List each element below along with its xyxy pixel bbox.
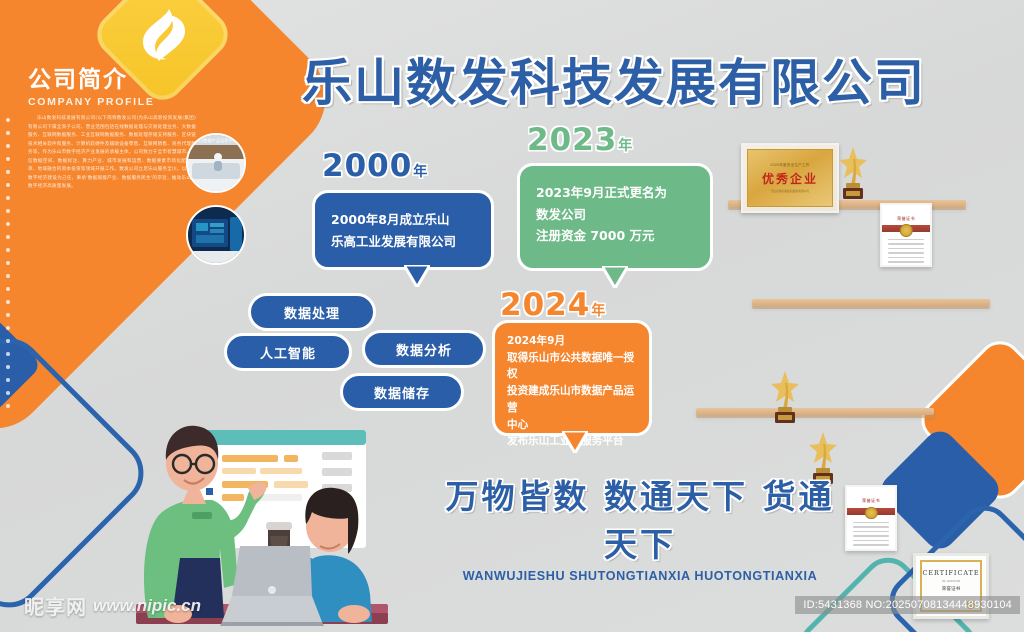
bubble-tail-2000 <box>404 265 430 287</box>
cert-v-title-1: 荣誉证书 <box>882 216 930 222</box>
year-label-2024: 2024年 <box>500 287 605 323</box>
watermark-url: www.nipic.cn <box>93 596 201 616</box>
profile-photo-data-screen <box>186 205 246 265</box>
cert-gold-small-title: 2020年度安全生产工作 <box>770 163 809 168</box>
cert-gold-big-title: 优秀企业 <box>762 170 818 187</box>
cert-seal-icon <box>900 224 913 237</box>
year-label-2000: 2000年 <box>322 148 427 184</box>
capability-pill-data-analysis[interactable]: 数据分析 <box>362 330 486 368</box>
profile-heading-en: COMPANY PROFILE <box>28 96 203 108</box>
award-trophy <box>838 145 1024 206</box>
profile-photo-operations-center: 乐山数据产品运营中心 <box>186 133 246 193</box>
timeline-bubble-2000: 2000年8月成立乐山 乐高工业发展有限公司 <box>312 190 494 270</box>
bubble-tail-2023 <box>602 266 628 288</box>
award-certificate-excellent-enterprise: 2020年度安全生产工作 优秀企业 乐山高新投资发展(集团)有限公司 <box>741 143 839 213</box>
award-trophy <box>770 369 1024 430</box>
cert-land-subtitle: OF HONOUR <box>916 579 986 583</box>
capability-pill-artificial-intelligence[interactable]: 人工智能 <box>224 333 352 371</box>
bubble-tail-2024 <box>562 431 588 453</box>
slogan-block: 万物皆数 数通天下 货通天下 WANWUJIESHU SHUTONGTIANXI… <box>430 470 850 583</box>
timeline-bubble-2024: 2024年9月 取得乐山市公共数据唯一授权 投资建成乐山市数据产品运营 中心 发… <box>492 320 652 436</box>
logo-flame-icon <box>110 0 215 87</box>
timeline-bubble-2023-text: 2023年9月正式更名为 数发公司 注册资金 7000 万元 <box>520 166 710 261</box>
capability-pill-data-processing[interactable]: 数据处理 <box>248 293 376 331</box>
cert-v-title-2: 荣誉证书 <box>847 498 895 504</box>
cert-land-title-cn: 荣誉证书 <box>916 586 986 592</box>
year-label-2023: 2023年 <box>527 122 632 158</box>
slogan-cn: 万物皆数 数通天下 货通天下 <box>430 470 850 566</box>
image-id-tag: ID:5431368 NO:20250708134448930104 <box>795 596 1020 614</box>
site-watermark: 昵享网 www.nipic.cn <box>24 591 201 620</box>
watermark-cn: 昵享网 <box>24 591 87 620</box>
cert-land-title: CERTIFICATE <box>916 569 986 577</box>
dotted-strip <box>6 118 14 418</box>
timeline-bubble-2023: 2023年9月正式更名为 数发公司 注册资金 7000 万元 <box>517 163 713 271</box>
award-certificate-honour-2: 荣誉证书 <box>845 485 897 551</box>
award-shelf-2 <box>752 299 990 306</box>
profile-body-text: 乐山数发科技发展有限公司(以下简称数发公司)为乐山高新投资发展(集团)有限公司下… <box>28 115 196 191</box>
slogan-en: WANWUJIESHU SHUTONGTIANXIA HUOTONGTIANXI… <box>430 569 850 583</box>
capability-pill-data-storage[interactable]: 数据储存 <box>340 373 464 411</box>
page-title: 乐山数发科技发展有限公司 <box>302 58 926 108</box>
timeline-bubble-2000-text: 2000年8月成立乐山 乐高工业发展有限公司 <box>315 193 491 266</box>
cert-seal-icon <box>865 507 878 520</box>
poster-canvas: 公司简介 COMPANY PROFILE 乐山数发科技发展有限公司(以下简称数发… <box>0 0 1024 632</box>
award-certificate-honour-1: 荣誉证书 <box>880 203 932 267</box>
cert-gold-footer: 乐山高新投资发展(集团)有限公司 <box>771 189 809 193</box>
photo-caption-1: 乐山数据产品运营中心 <box>188 138 244 144</box>
